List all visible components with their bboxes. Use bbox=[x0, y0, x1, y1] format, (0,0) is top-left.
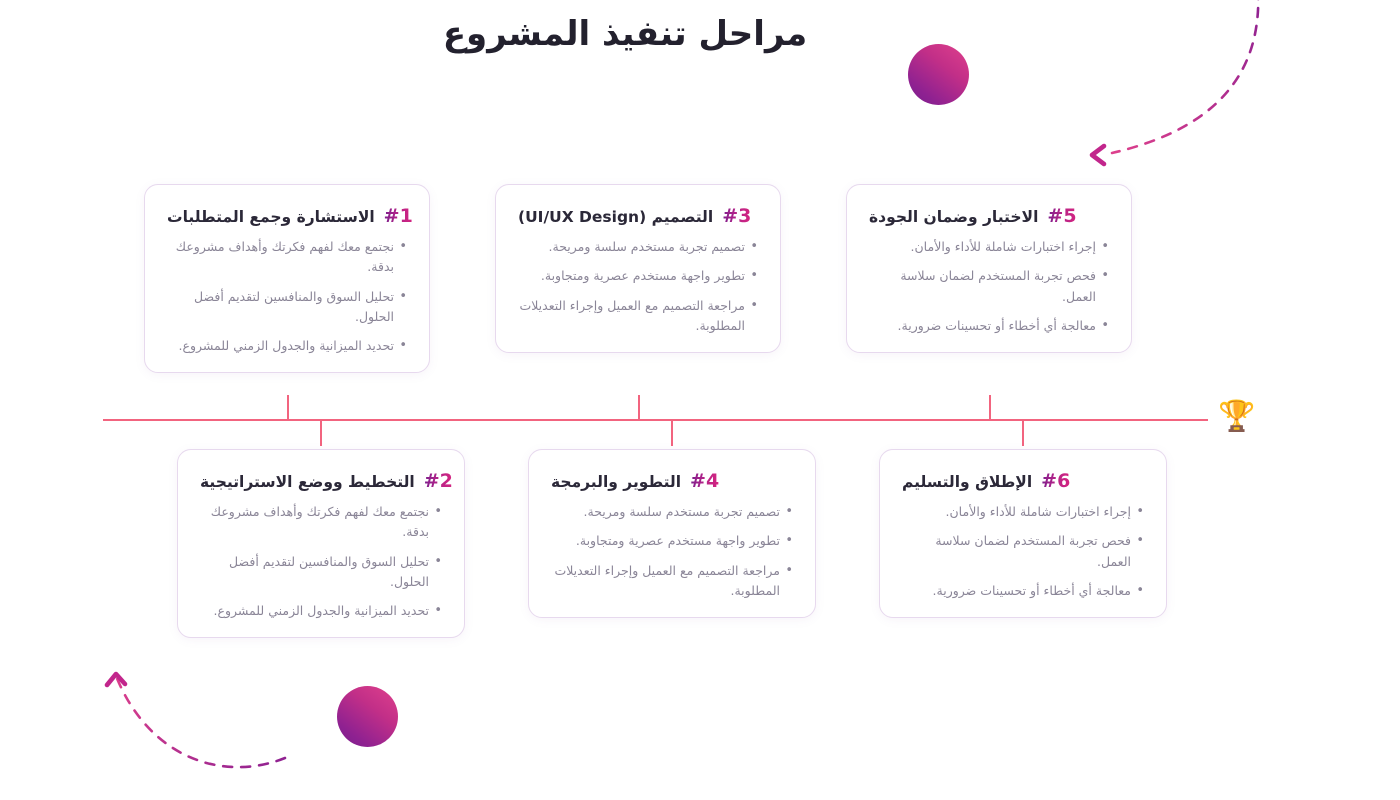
timeline-stem-card-2 bbox=[320, 421, 322, 446]
list-item: مراجعة التصميم مع العميل وإجراء التعديلا… bbox=[551, 561, 793, 602]
list-item: نجتمع معك لفهم فكرتك وأهداف مشروعك بدقة. bbox=[167, 237, 407, 278]
stage-card-2[interactable]: #2 التخطيط ووضع الاستراتيجية نجتمع معك ل… bbox=[177, 449, 465, 638]
arrow-head-left-icon bbox=[1092, 146, 1104, 164]
card-number: #1 bbox=[384, 205, 413, 227]
decorative-arrows-layer bbox=[0, 0, 1400, 800]
gradient-sphere-top-icon bbox=[908, 44, 969, 105]
card-header: #3 التصميم (UI/UX Design) bbox=[518, 205, 758, 227]
card-title: التخطيط ووضع الاستراتيجية bbox=[200, 473, 415, 491]
timeline-stem-card-1 bbox=[287, 395, 289, 420]
timeline-stem-card-5 bbox=[989, 395, 991, 420]
dashed-arc-bottom-left bbox=[116, 676, 285, 767]
list-item: إجراء اختبارات شاملة للأداء والأمان. bbox=[869, 237, 1109, 257]
card-number: #3 bbox=[722, 205, 751, 227]
card-header: #6 الإطلاق والتسليم bbox=[902, 470, 1144, 492]
stage-card-3[interactable]: #3 التصميم (UI/UX Design) تصميم تجربة مس… bbox=[495, 184, 781, 353]
list-item: تحليل السوق والمنافسين لتقديم أفضل الحلو… bbox=[167, 287, 407, 328]
list-item: نجتمع معك لفهم فكرتك وأهداف مشروعك بدقة. bbox=[200, 502, 442, 543]
card-bullet-list: نجتمع معك لفهم فكرتك وأهداف مشروعك بدقة.… bbox=[167, 237, 407, 356]
list-item: معالجة أي أخطاء أو تحسينات ضرورية. bbox=[869, 316, 1109, 336]
stage-card-6[interactable]: #6 الإطلاق والتسليم إجراء اختبارات شاملة… bbox=[879, 449, 1167, 618]
card-bullet-list: تصميم تجربة مستخدم سلسة ومريحة. تطوير وا… bbox=[551, 502, 793, 601]
card-title: الاستشارة وجمع المتطلبات bbox=[167, 208, 375, 226]
card-number: #4 bbox=[690, 470, 719, 492]
card-header: #4 التطوير والبرمجة bbox=[551, 470, 793, 492]
card-title: الإطلاق والتسليم bbox=[902, 473, 1032, 491]
card-header: #1 الاستشارة وجمع المتطلبات bbox=[167, 205, 407, 227]
list-item: إجراء اختبارات شاملة للأداء والأمان. bbox=[902, 502, 1144, 522]
list-item: تصميم تجربة مستخدم سلسة ومريحة. bbox=[518, 237, 758, 257]
card-header: #2 التخطيط ووضع الاستراتيجية bbox=[200, 470, 442, 492]
list-item: فحص تجربة المستخدم لضمان سلاسة العمل. bbox=[902, 531, 1144, 572]
card-bullet-list: تصميم تجربة مستخدم سلسة ومريحة. تطوير وا… bbox=[518, 237, 758, 336]
card-number: #5 bbox=[1047, 205, 1076, 227]
timeline-spine bbox=[103, 419, 1208, 421]
list-item: تصميم تجربة مستخدم سلسة ومريحة. bbox=[551, 502, 793, 522]
arrow-head-up-icon bbox=[107, 674, 125, 685]
card-number: #2 bbox=[424, 470, 453, 492]
card-title: التطوير والبرمجة bbox=[551, 473, 681, 491]
card-title: التصميم (UI/UX Design) bbox=[518, 208, 713, 226]
trophy-icon: 🏆 bbox=[1218, 402, 1255, 432]
stage-card-4[interactable]: #4 التطوير والبرمجة تصميم تجربة مستخدم س… bbox=[528, 449, 816, 618]
stage-card-5[interactable]: #5 الاختبار وضمان الجودة إجراء اختبارات … bbox=[846, 184, 1132, 353]
card-number: #6 bbox=[1041, 470, 1070, 492]
list-item: تحديد الميزانية والجدول الزمني للمشروع. bbox=[167, 336, 407, 356]
timeline-stem-card-6 bbox=[1022, 421, 1024, 446]
timeline-stem-card-4 bbox=[671, 421, 673, 446]
list-item: تحديد الميزانية والجدول الزمني للمشروع. bbox=[200, 601, 442, 621]
timeline-stem-card-3 bbox=[638, 395, 640, 420]
list-item: فحص تجربة المستخدم لضمان سلاسة العمل. bbox=[869, 266, 1109, 307]
card-bullet-list: إجراء اختبارات شاملة للأداء والأمان. فحص… bbox=[869, 237, 1109, 336]
infographic-stage: مراحل تنفيذ المشروع bbox=[0, 0, 1400, 800]
list-item: مراجعة التصميم مع العميل وإجراء التعديلا… bbox=[518, 296, 758, 337]
list-item: تطوير واجهة مستخدم عصرية ومتجاوبة. bbox=[551, 531, 793, 551]
gradient-sphere-bottom-icon bbox=[337, 686, 398, 747]
card-bullet-list: إجراء اختبارات شاملة للأداء والأمان. فحص… bbox=[902, 502, 1144, 601]
card-header: #5 الاختبار وضمان الجودة bbox=[869, 205, 1109, 227]
page-title: مراحل تنفيذ المشروع bbox=[0, 14, 1400, 54]
stage-card-1[interactable]: #1 الاستشارة وجمع المتطلبات نجتمع معك لف… bbox=[144, 184, 430, 373]
list-item: تطوير واجهة مستخدم عصرية ومتجاوبة. bbox=[518, 266, 758, 286]
list-item: تحليل السوق والمنافسين لتقديم أفضل الحلو… bbox=[200, 552, 442, 593]
card-bullet-list: نجتمع معك لفهم فكرتك وأهداف مشروعك بدقة.… bbox=[200, 502, 442, 621]
card-title: الاختبار وضمان الجودة bbox=[869, 208, 1038, 226]
list-item: معالجة أي أخطاء أو تحسينات ضرورية. bbox=[902, 581, 1144, 601]
